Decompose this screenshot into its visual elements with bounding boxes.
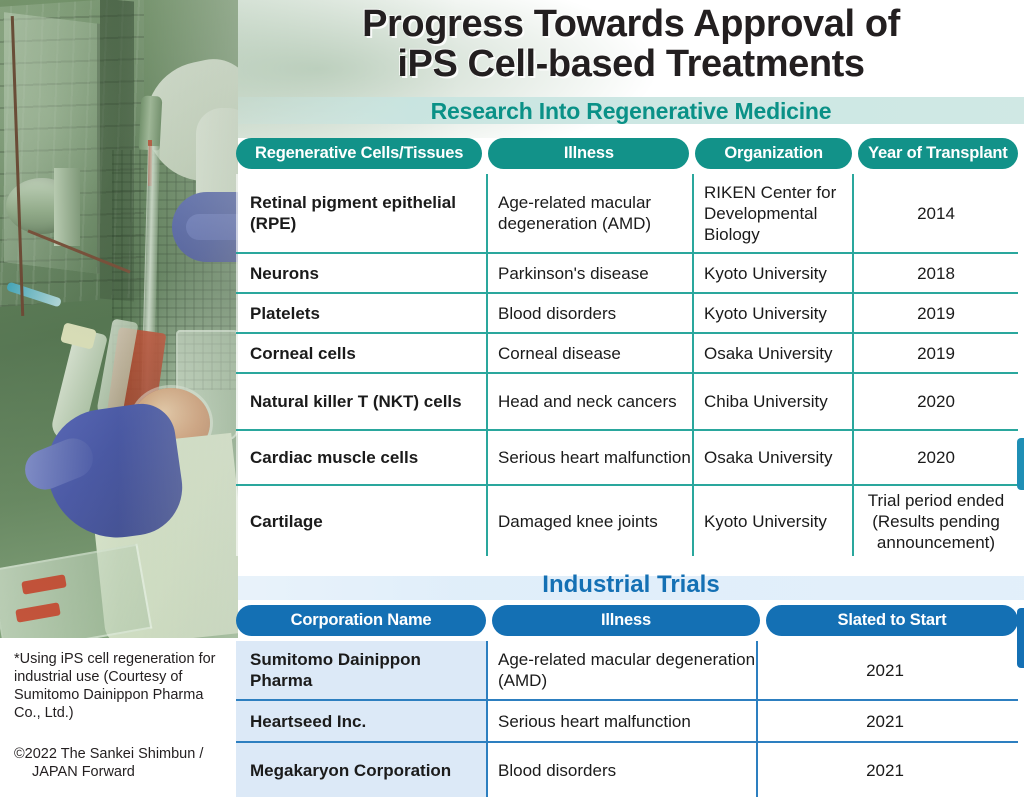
cell-organization: Kyoto University	[694, 294, 854, 332]
cell-year: 2019	[854, 334, 1018, 372]
cell-cells-tissues: Cartilage	[236, 486, 488, 556]
industrial-trials-table: Corporation Name Illness Slated to Start…	[236, 605, 1018, 797]
cell-year: 2018	[854, 254, 1018, 292]
table-row: Heartseed Inc. Serious heart malfunction…	[236, 699, 1018, 741]
column-header-illness: Illness	[488, 138, 689, 169]
cell-cells-tissues: Retinal pigment epithelial (RPE)	[236, 174, 488, 252]
decorative-sliver-bottom	[1017, 608, 1024, 668]
decorative-sliver-top	[1017, 438, 1024, 490]
cell-year: 2020	[854, 431, 1018, 484]
column-header-slated-to-start: Slated to Start	[766, 605, 1018, 636]
main-table-body: Retinal pigment epithelial (RPE) Age-rel…	[236, 174, 1018, 556]
cell-illness: Damaged knee joints	[488, 486, 694, 556]
cell-illness: Age-related macular degeneration (AMD)	[488, 174, 694, 252]
page-title-line-2: iPS Cell-based Treatments	[238, 44, 1024, 84]
column-header-organization: Organization	[695, 138, 851, 169]
cell-organization: Osaka University	[694, 334, 854, 372]
table-row: Natural killer T (NKT) cells Head and ne…	[236, 372, 1018, 429]
cell-start-year: 2021	[758, 701, 1012, 741]
cell-cells-tissues: Neurons	[236, 254, 488, 292]
page-subtitle: Research Into Regenerative Medicine	[238, 96, 1024, 126]
cell-cells-tissues: Cardiac muscle cells	[236, 431, 488, 484]
table-row: Neurons Parkinson's disease Kyoto Univer…	[236, 252, 1018, 292]
cell-year: 2020	[854, 374, 1018, 429]
table-row: Retinal pigment epithelial (RPE) Age-rel…	[236, 174, 1018, 252]
table-row: Platelets Blood disorders Kyoto Universi…	[236, 292, 1018, 332]
cell-illness: Age-related macular degeneration (AMD)	[488, 641, 758, 699]
page-title-line-1: Progress Towards Approval of	[238, 4, 1024, 44]
page-title: Progress Towards Approval of iPS Cell-ba…	[238, 4, 1024, 84]
column-header-corporation-name: Corporation Name	[236, 605, 486, 636]
table-row: Megakaryon Corporation Blood disorders 2…	[236, 741, 1018, 797]
cell-organization: Kyoto University	[694, 254, 854, 292]
cell-corporation: Heartseed Inc.	[236, 701, 488, 741]
cell-corporation: Megakaryon Corporation	[236, 743, 488, 797]
photo-credit-caption: *Using iPS cell regeneration for industr…	[14, 650, 226, 722]
cell-illness: Parkinson's disease	[488, 254, 694, 292]
table-row: Cardiac muscle cells Serious heart malfu…	[236, 429, 1018, 484]
cell-illness: Blood disorders	[488, 294, 694, 332]
cell-cells-tissues: Natural killer T (NKT) cells	[236, 374, 488, 429]
cell-start-year: 2021	[758, 641, 1012, 699]
cell-cells-tissues: Corneal cells	[236, 334, 488, 372]
cell-illness: Corneal disease	[488, 334, 694, 372]
copyright-line-2: JAPAN Forward	[14, 763, 226, 781]
cell-illness: Serious heart malfunction	[488, 701, 758, 741]
column-header-illness: Illness	[492, 605, 760, 636]
copyright-line-1: ©2022 The Sankei Shimbun /	[14, 746, 203, 762]
industrial-trials-title: Industrial Trials	[238, 568, 1024, 602]
cell-year: 2014	[854, 174, 1018, 252]
cell-year: Trial period ended (Results pending anno…	[854, 486, 1018, 556]
table-row: Cartilage Damaged knee joints Kyoto Univ…	[236, 484, 1018, 556]
photo-fade-overlay	[118, 0, 238, 638]
cell-cells-tissues: Platelets	[236, 294, 488, 332]
cell-organization: Chiba University	[694, 374, 854, 429]
copyright-notice: ©2022 The Sankei Shimbun / JAPAN Forward	[14, 745, 226, 781]
cell-start-year: 2021	[758, 743, 1012, 797]
table-row: Corneal cells Corneal disease Osaka Univ…	[236, 332, 1018, 372]
cell-illness: Blood disorders	[488, 743, 758, 797]
cell-year: 2019	[854, 294, 1018, 332]
table-row: Sumitomo Dainippon Pharma Age-related ma…	[236, 641, 1018, 699]
lab-photograph	[0, 0, 238, 638]
main-table-header-row: Regenerative Cells/Tissues Illness Organ…	[236, 138, 1018, 169]
main-table: Regenerative Cells/Tissues Illness Organ…	[236, 138, 1018, 556]
cell-organization: RIKEN Center for Developmental Biology	[694, 174, 854, 252]
cell-organization: Kyoto University	[694, 486, 854, 556]
cell-organization: Osaka University	[694, 431, 854, 484]
cell-illness: Head and neck cancers	[488, 374, 694, 429]
cell-corporation: Sumitomo Dainippon Pharma	[236, 641, 488, 699]
cell-illness: Serious heart malfunction	[488, 431, 694, 484]
industrial-table-body: Sumitomo Dainippon Pharma Age-related ma…	[236, 641, 1018, 797]
column-header-cells-tissues: Regenerative Cells/Tissues	[236, 138, 482, 169]
column-header-year: Year of Transplant	[858, 138, 1018, 169]
industrial-table-header-row: Corporation Name Illness Slated to Start	[236, 605, 1018, 636]
